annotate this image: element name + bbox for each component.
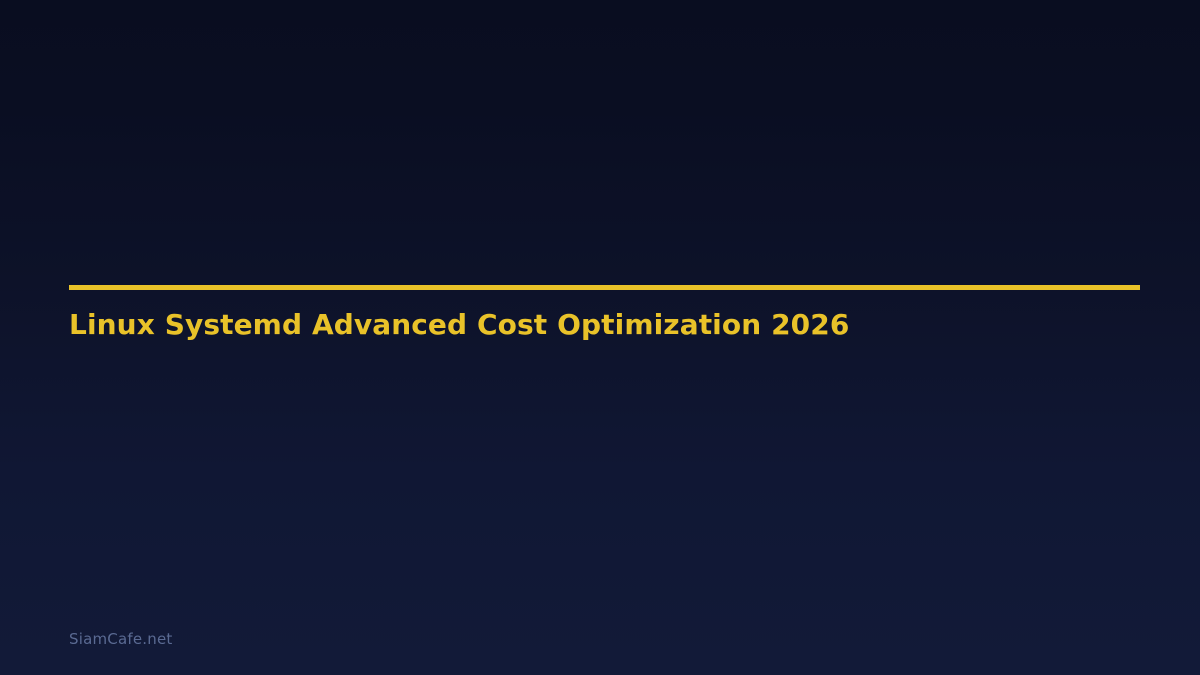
watermark-label: SiamCafe.net bbox=[69, 629, 172, 649]
title-block: Linux Systemd Advanced Cost Optimization… bbox=[69, 285, 1140, 341]
page-title: Linux Systemd Advanced Cost Optimization… bbox=[69, 290, 1140, 341]
slide-canvas: Linux Systemd Advanced Cost Optimization… bbox=[0, 0, 1200, 675]
